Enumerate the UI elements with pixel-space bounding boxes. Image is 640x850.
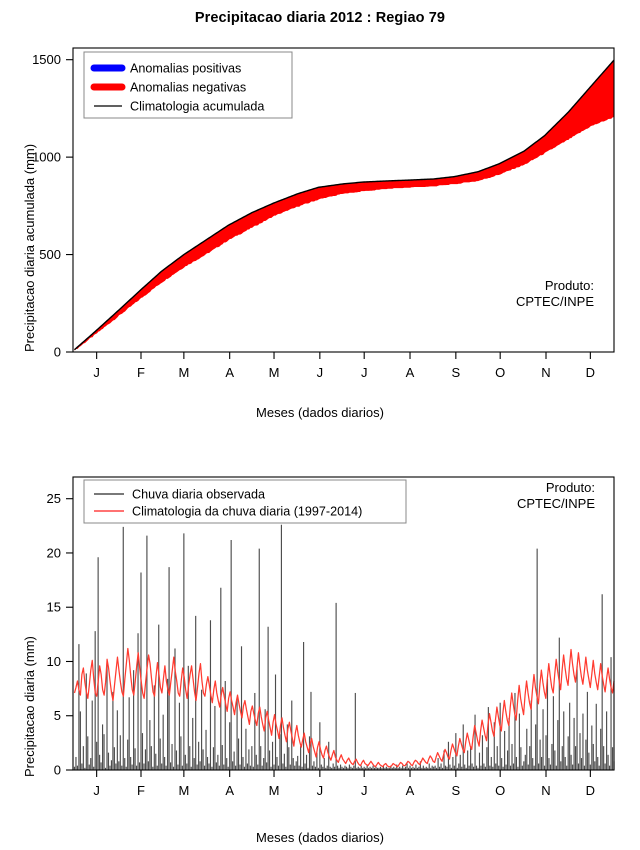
x-tick-label: J (317, 783, 324, 798)
legend-label-0: Anomalias positivas (130, 62, 241, 76)
panel-accumulated-precipitation: Precipitacao diaria 2012 : Regiao 79 050… (0, 0, 640, 425)
legend-label-2: Climatologia acumulada (130, 100, 264, 114)
y-tick-label: 15 (47, 600, 61, 615)
panel-daily-precipitation: 0510152025JFMAMJJASONDChuva diaria obser… (0, 425, 640, 850)
x-tick-label: J (361, 783, 368, 798)
x-tick-label: D (586, 783, 595, 798)
legend-label-1: Climatologia da chuva diaria (1997-2014) (132, 505, 362, 519)
y-axis-label-bottom: Precipitacao diaria (mm) (22, 636, 37, 777)
produto-line-2: CPTEC/INPE (455, 496, 595, 512)
accumulated-precipitation-chart: 050010001500JFMAMJJASONDAnomalias positi… (0, 0, 640, 425)
y-axis-label-top: Precipitacao diaria acumulada (mm) (22, 144, 37, 352)
climatology-daily-line (74, 648, 614, 766)
x-tick-label: A (406, 365, 415, 380)
y-tick-label: 0 (54, 763, 61, 778)
x-tick-label: A (225, 783, 234, 798)
y-tick-label: 10 (47, 654, 61, 669)
x-axis-label-top: Meses (dados diarios) (0, 405, 640, 420)
figure-page: Precipitacao diaria 2012 : Regiao 79 050… (0, 0, 640, 850)
x-tick-label: M (269, 783, 280, 798)
x-tick-label: N (541, 365, 550, 380)
x-tick-label: J (317, 365, 324, 380)
produto-line-2: CPTEC/INPE (444, 294, 594, 310)
x-tick-label: J (93, 365, 100, 380)
produto-annotation-top: Produto: CPTEC/INPE (444, 278, 594, 311)
x-tick-label: A (225, 365, 234, 380)
observed-daily-bars (74, 525, 614, 770)
x-tick-label: M (269, 365, 280, 380)
x-tick-label: O (495, 783, 505, 798)
y-tick-label: 500 (39, 247, 61, 262)
x-tick-label: N (541, 783, 550, 798)
x-tick-label: M (178, 783, 189, 798)
x-tick-label: D (586, 365, 595, 380)
produto-line-1: Produto: (455, 480, 595, 496)
y-tick-label: 25 (47, 491, 61, 506)
legend-label-0: Chuva diaria observada (132, 488, 265, 502)
y-tick-label: 0 (54, 345, 61, 360)
x-tick-label: F (137, 365, 145, 380)
x-tick-label: A (406, 783, 415, 798)
x-tick-label: M (178, 365, 189, 380)
x-tick-label: O (495, 365, 505, 380)
x-tick-label: J (361, 365, 368, 380)
x-tick-label: S (452, 783, 461, 798)
x-tick-label: S (452, 365, 461, 380)
x-axis-label-bottom: Meses (dados diarios) (0, 830, 640, 845)
y-tick-label: 1500 (32, 52, 61, 67)
x-tick-label: F (137, 783, 145, 798)
legend-label-1: Anomalias negativas (130, 81, 246, 95)
produto-line-1: Produto: (444, 278, 594, 294)
x-tick-label: J (93, 783, 100, 798)
y-tick-label: 5 (54, 708, 61, 723)
y-tick-label: 20 (47, 545, 61, 560)
produto-annotation-bottom: Produto: CPTEC/INPE (455, 480, 595, 513)
